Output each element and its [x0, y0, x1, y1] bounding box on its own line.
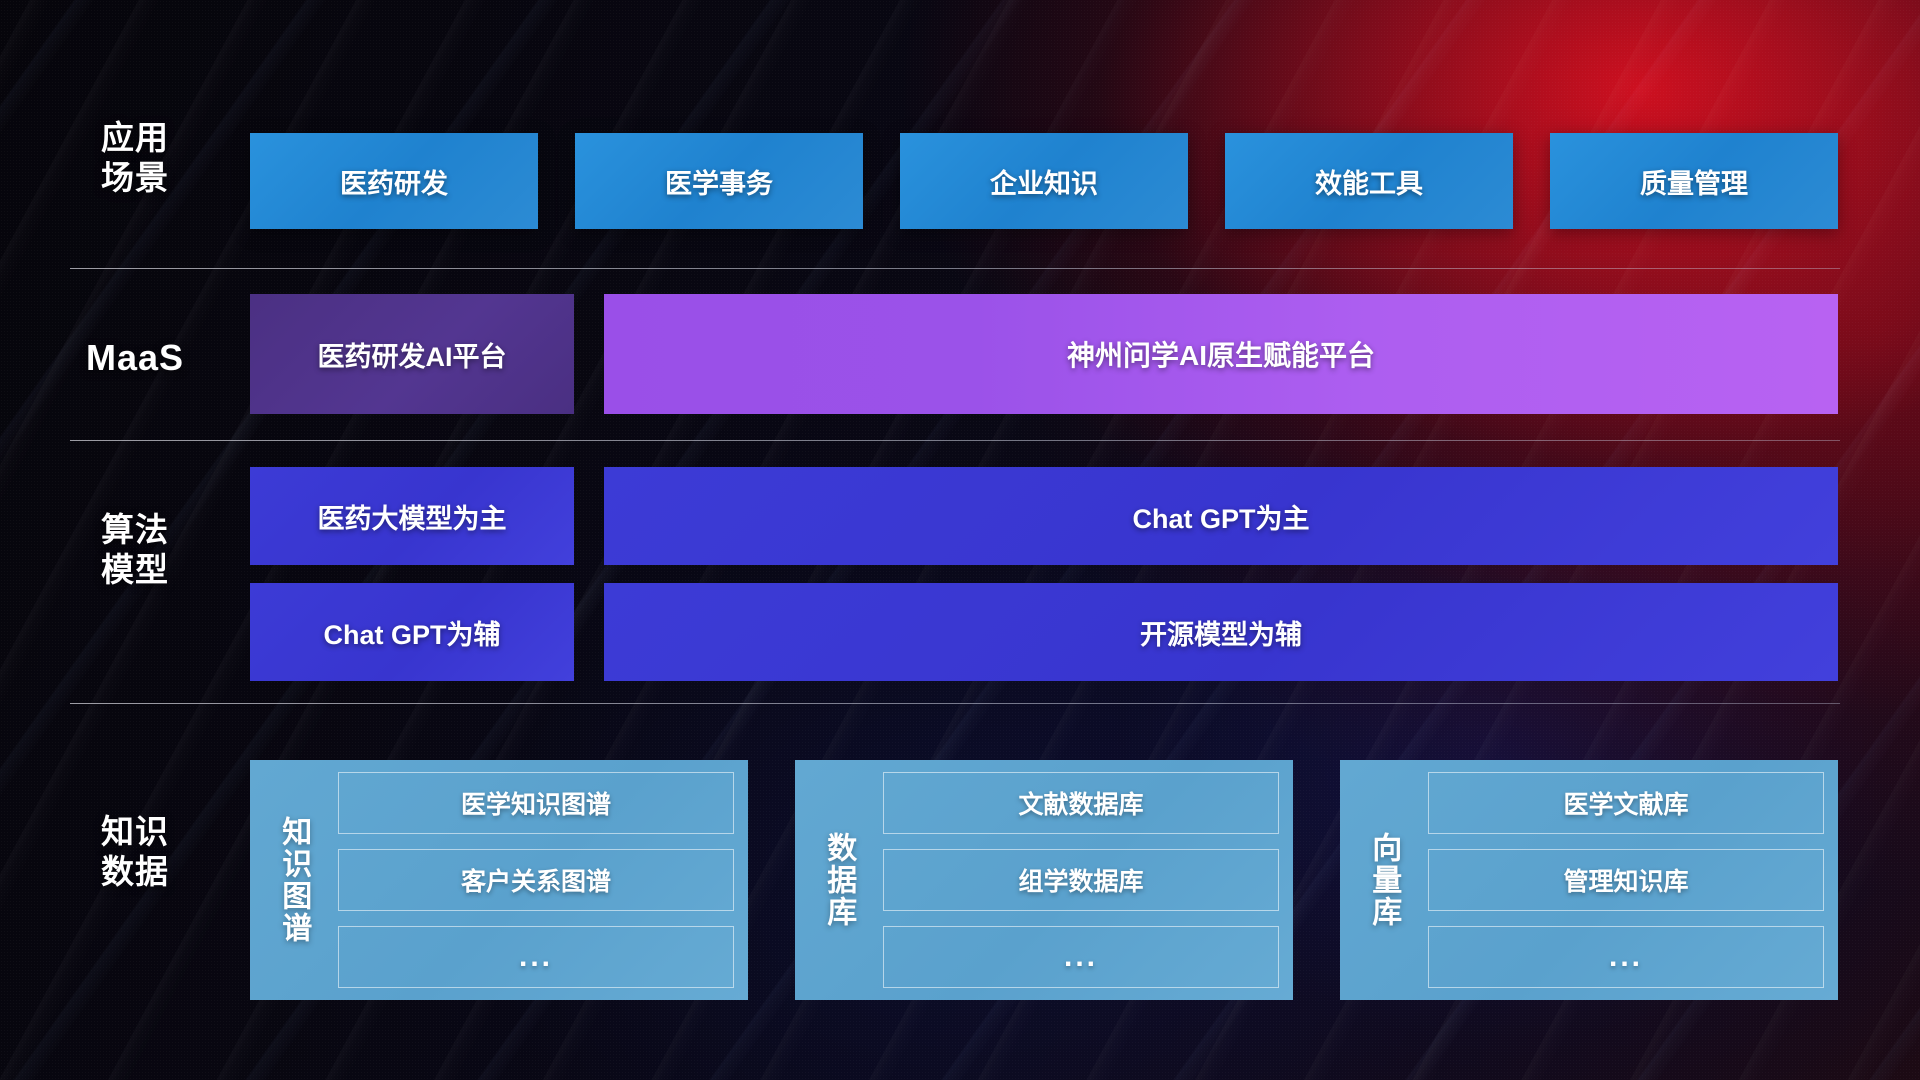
- algo-box-chatgpt-secondary[interactable]: Chat GPT为辅: [250, 583, 574, 681]
- divider-after-maas: [70, 440, 1840, 441]
- app-box-1-label: 医药研发: [340, 162, 448, 201]
- app-box-3-label: 企业知识: [990, 162, 1098, 201]
- row-label-knowledge-data: 知识 数据: [70, 812, 200, 893]
- knowledge-card-1-item-2[interactable]: 客户关系图谱: [338, 849, 734, 911]
- knowledge-card-database[interactable]: 数据库 文献数据库 组学数据库 ...: [795, 760, 1293, 1000]
- algo-box-chatgpt-secondary-label: Chat GPT为辅: [323, 613, 500, 652]
- row-label-algo-line-2: 模型: [70, 550, 200, 590]
- row-label-knowledge-line-1: 知识: [70, 812, 200, 852]
- knowledge-card-3-items: 医学文献库 管理知识库 ...: [1428, 772, 1824, 988]
- row-label-application-scenarios: 应用 场景: [70, 118, 200, 199]
- app-box-3[interactable]: 企业知识: [900, 133, 1188, 229]
- knowledge-card-vector-store[interactable]: 向量库 医学文献库 管理知识库 ...: [1340, 760, 1838, 1000]
- knowledge-card-1-title: 知识图谱: [262, 772, 324, 988]
- diagram-content: 应用 场景 医药研发 医学事务 企业知识 效能工具 质量管理 MaaS 医药研发…: [0, 0, 1920, 1080]
- knowledge-card-3-item-1[interactable]: 医学文献库: [1428, 772, 1824, 834]
- knowledge-card-knowledge-graph[interactable]: 知识图谱 医学知识图谱 客户关系图谱 ...: [250, 760, 748, 1000]
- algo-box-opensource-secondary[interactable]: 开源模型为辅: [604, 583, 1838, 681]
- divider-after-algorithm: [70, 703, 1840, 704]
- maas-box-shenzhou-platform-label: 神州问学AI原生赋能平台: [1067, 334, 1375, 374]
- knowledge-card-1-items: 医学知识图谱 客户关系图谱 ...: [338, 772, 734, 988]
- row-label-line-1: 应用: [70, 118, 200, 158]
- row-label-knowledge-line-2: 数据: [70, 852, 200, 892]
- knowledge-card-1-item-1[interactable]: 医学知识图谱: [338, 772, 734, 834]
- knowledge-card-2-item-2[interactable]: 组学数据库: [883, 849, 1279, 911]
- algo-box-chatgpt-primary[interactable]: Chat GPT为主: [604, 467, 1838, 565]
- maas-box-shenzhou-platform[interactable]: 神州问学AI原生赋能平台: [604, 294, 1838, 414]
- app-box-1[interactable]: 医药研发: [250, 133, 538, 229]
- knowledge-card-1-item-3[interactable]: ...: [338, 926, 734, 988]
- maas-box-pharma-ai-platform-label: 医药研发AI平台: [318, 335, 507, 374]
- row-label-line-2: 场景: [70, 158, 200, 198]
- knowledge-card-2-item-1[interactable]: 文献数据库: [883, 772, 1279, 834]
- knowledge-card-3-title: 向量库: [1352, 772, 1414, 988]
- algo-box-chatgpt-primary-label: Chat GPT为主: [1132, 497, 1309, 536]
- knowledge-card-2-title: 数据库: [807, 772, 869, 988]
- row-label-maas: MaaS: [70, 336, 200, 380]
- app-box-4-label: 效能工具: [1315, 162, 1423, 201]
- app-box-5-label: 质量管理: [1640, 162, 1748, 201]
- app-box-2[interactable]: 医学事务: [575, 133, 863, 229]
- app-box-4[interactable]: 效能工具: [1225, 133, 1513, 229]
- algo-box-pharma-llm-primary[interactable]: 医药大模型为主: [250, 467, 574, 565]
- knowledge-card-3-item-3[interactable]: ...: [1428, 926, 1824, 988]
- maas-box-pharma-ai-platform[interactable]: 医药研发AI平台: [250, 294, 574, 414]
- knowledge-card-3-item-2[interactable]: 管理知识库: [1428, 849, 1824, 911]
- knowledge-card-2-item-3[interactable]: ...: [883, 926, 1279, 988]
- algo-box-opensource-secondary-label: 开源模型为辅: [1140, 613, 1302, 652]
- row-label-maas-line-1: MaaS: [70, 336, 200, 380]
- divider-after-application: [70, 268, 1840, 269]
- app-box-5[interactable]: 质量管理: [1550, 133, 1838, 229]
- knowledge-card-2-items: 文献数据库 组学数据库 ...: [883, 772, 1279, 988]
- row-label-algo-line-1: 算法: [70, 510, 200, 550]
- row-label-algorithm-model: 算法 模型: [70, 510, 200, 591]
- algo-box-pharma-llm-primary-label: 医药大模型为主: [318, 497, 507, 536]
- app-box-2-label: 医学事务: [665, 162, 773, 201]
- slide-canvas: 应用 场景 医药研发 医学事务 企业知识 效能工具 质量管理 MaaS 医药研发…: [0, 0, 1920, 1080]
